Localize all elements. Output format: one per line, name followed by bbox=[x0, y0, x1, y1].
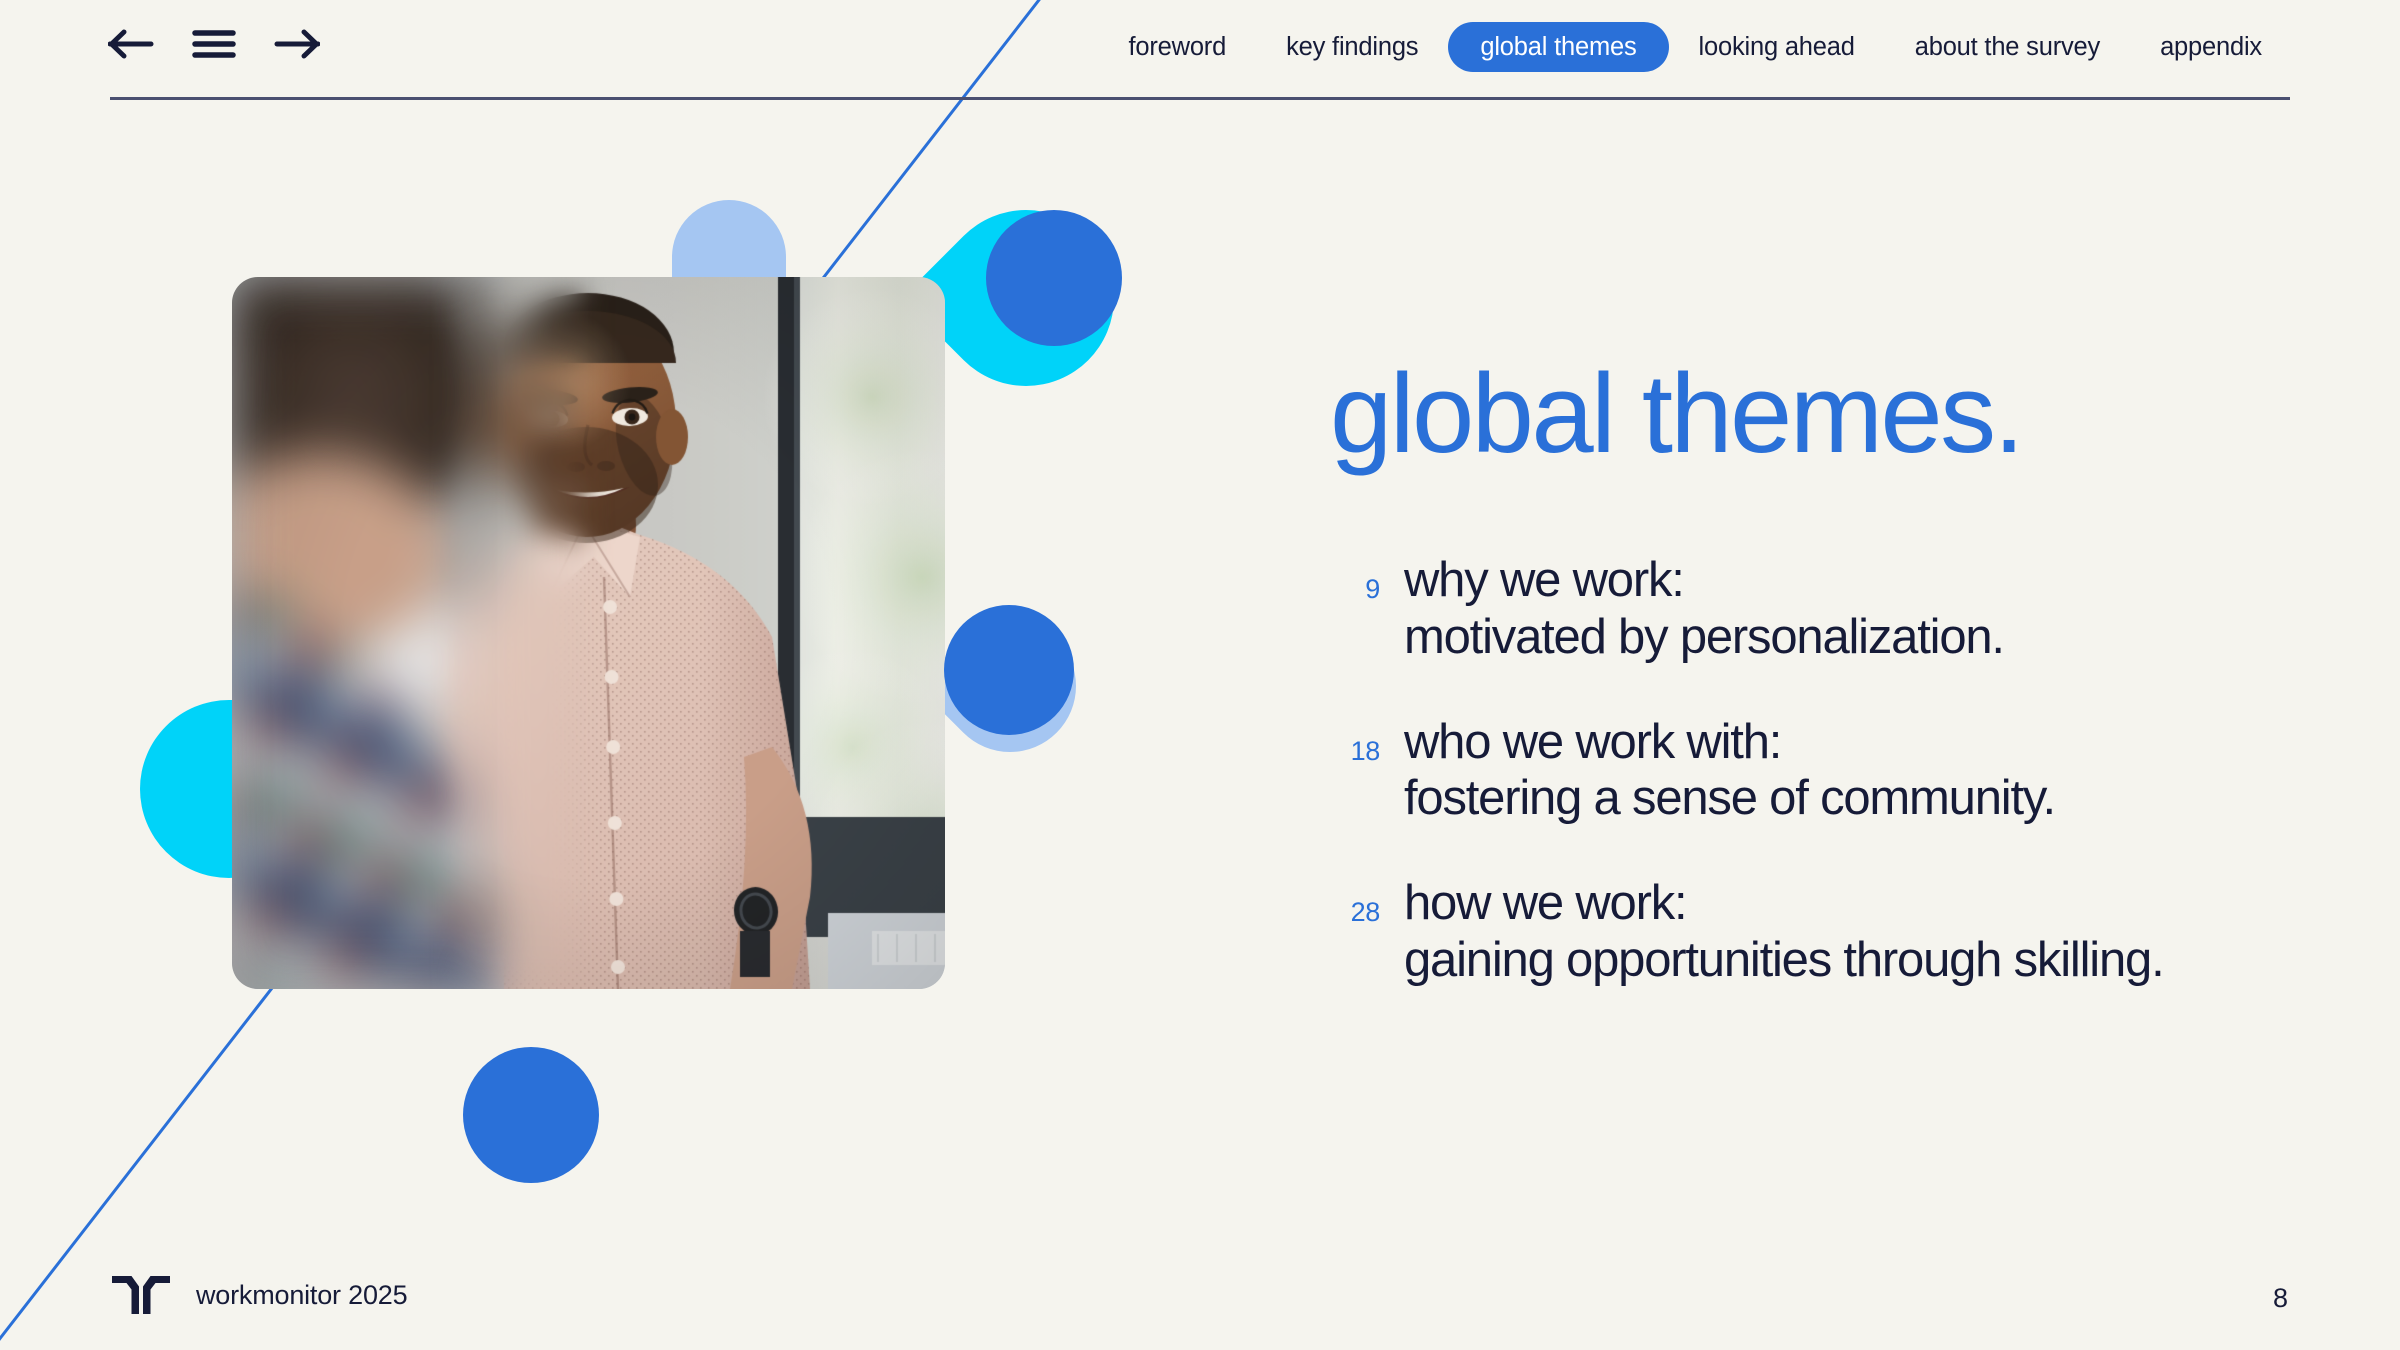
header: foreword key findings global themes look… bbox=[0, 0, 2400, 106]
slide-navigation-controls bbox=[108, 27, 320, 61]
hero-visual bbox=[0, 0, 1180, 1350]
arrow-left-icon bbox=[108, 27, 154, 61]
nav-item-foreword[interactable]: foreword bbox=[1098, 22, 1256, 72]
toc-line-primary: who we work with: bbox=[1404, 714, 2055, 771]
table-of-contents: 9 why we work: motivated by personalizat… bbox=[1330, 552, 2350, 989]
hamburger-menu-icon bbox=[192, 27, 236, 61]
section-nav: foreword key findings global themes look… bbox=[1098, 22, 2292, 72]
toc-line-primary: how we work: bbox=[1404, 875, 2164, 932]
arrow-right-icon bbox=[274, 27, 320, 61]
toc-line-primary: why we work: bbox=[1404, 552, 2004, 609]
nav-item-appendix[interactable]: appendix bbox=[2130, 22, 2292, 72]
toc-line-secondary: motivated by personalization. bbox=[1404, 609, 2004, 666]
header-divider bbox=[110, 97, 2290, 100]
hero-photo-canvas bbox=[232, 277, 945, 989]
toc-page-number: 18 bbox=[1330, 714, 1380, 767]
hero-photo bbox=[232, 277, 945, 989]
main-content: global themes. 9 why we work: motivated … bbox=[1330, 0, 2330, 1350]
slide: foreword key findings global themes look… bbox=[0, 0, 2400, 1350]
toc-entry-text: why we work: motivated by personalizatio… bbox=[1404, 552, 2004, 666]
toc-page-number: 9 bbox=[1330, 552, 1380, 605]
toc-line-secondary: gaining opportunities through skilling. bbox=[1404, 932, 2164, 989]
toc-entry-text: how we work: gaining opportunities throu… bbox=[1404, 875, 2164, 989]
toc-line-secondary: fostering a sense of community. bbox=[1404, 770, 2055, 827]
next-slide-button[interactable] bbox=[274, 27, 320, 61]
nav-item-looking-ahead[interactable]: looking ahead bbox=[1669, 22, 1885, 72]
page-title: global themes. bbox=[1330, 358, 2022, 470]
toc-entry-how-we-work[interactable]: 28 how we work: gaining opportunities th… bbox=[1330, 875, 2350, 989]
footer-brand-label: workmonitor 2025 bbox=[196, 1280, 407, 1311]
circle-blue-mid-shape bbox=[944, 605, 1074, 735]
toc-page-number: 28 bbox=[1330, 875, 1380, 928]
page-number: 8 bbox=[2273, 1283, 2288, 1314]
toc-entry-text: who we work with: fostering a sense of c… bbox=[1404, 714, 2055, 828]
circle-blue-bottom-shape bbox=[463, 1047, 599, 1183]
nav-item-key-findings[interactable]: key findings bbox=[1256, 22, 1448, 72]
footer: workmonitor 2025 8 bbox=[0, 1230, 2400, 1350]
toc-entry-why-we-work[interactable]: 9 why we work: motivated by personalizat… bbox=[1330, 552, 2350, 666]
nav-item-global-themes[interactable]: global themes bbox=[1448, 22, 1668, 72]
toc-entry-who-we-work-with[interactable]: 18 who we work with: fostering a sense o… bbox=[1330, 714, 2350, 828]
footer-brand: workmonitor 2025 bbox=[112, 1276, 407, 1314]
randstad-logo bbox=[112, 1276, 170, 1314]
circle-blue-top-shape bbox=[986, 210, 1122, 346]
previous-slide-button[interactable] bbox=[108, 27, 154, 61]
nav-item-about-the-survey[interactable]: about the survey bbox=[1885, 22, 2130, 72]
menu-button[interactable] bbox=[192, 27, 236, 61]
